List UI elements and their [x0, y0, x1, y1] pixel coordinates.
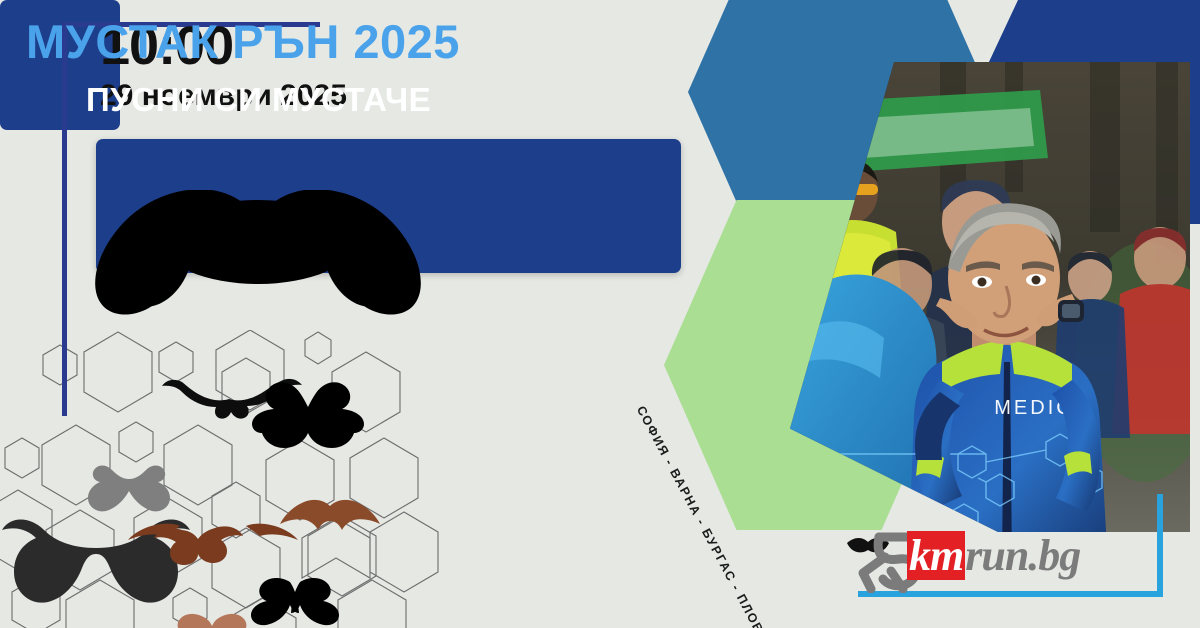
mustache-rounded-tan	[175, 614, 250, 628]
mustache-thick-dark	[2, 520, 190, 603]
event-title: МУСТАК РЪН 2025	[26, 14, 460, 69]
mustache-chevron-brown	[280, 500, 380, 530]
hero-mustache-icon	[78, 190, 438, 315]
mustache-curved-brown	[128, 524, 298, 565]
brand-logo[interactable]: kmrun.bg	[845, 527, 1135, 593]
event-banner: MEDIC	[0, 0, 1200, 628]
logo-wordmark: kmrun.bg	[907, 530, 1080, 581]
logo-domain: run.bg	[965, 531, 1080, 580]
mustache-walrus-gray	[88, 466, 170, 512]
event-subtitle: ПУСНИ СИ МУСТАЧЕ	[86, 81, 431, 119]
logo-km: km	[907, 531, 965, 580]
mustache-small-black	[251, 578, 339, 625]
